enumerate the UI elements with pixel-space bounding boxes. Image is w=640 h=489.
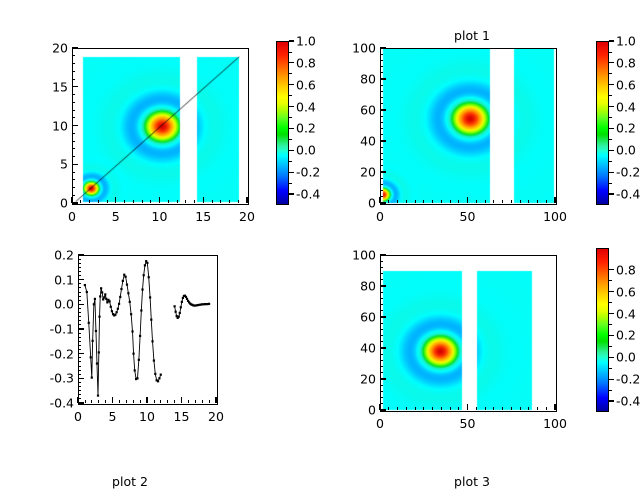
colorbar-tick-label: 0.6 <box>296 77 316 92</box>
x-minor-tick <box>388 200 389 203</box>
data-point-marker <box>97 395 99 397</box>
y-major-tick <box>380 285 386 286</box>
y-minor-tick <box>380 122 383 123</box>
colorbar-bottom-right <box>596 248 609 412</box>
colorbar-tick <box>609 84 614 85</box>
data-point-marker <box>146 262 148 264</box>
heatmap-image <box>381 49 556 204</box>
y-minor-tick <box>72 71 75 72</box>
panel-bottom-right: plot 3 020406080100050100 -0.4-0.20.00.2… <box>320 240 640 480</box>
colorbar-tick <box>609 357 614 358</box>
y-tick-label: -0.1 <box>32 322 74 337</box>
x-minor-tick <box>476 200 477 203</box>
colorbar-minor-tick <box>609 183 612 184</box>
y-minor-tick <box>380 103 383 104</box>
y-minor-tick <box>78 366 81 367</box>
y-minor-tick <box>380 97 383 98</box>
x-major-tick <box>115 197 116 203</box>
y-minor-tick <box>380 72 383 73</box>
y-minor-tick <box>380 261 383 262</box>
y-tick-label: 40 <box>334 341 376 356</box>
colorbar-minor-tick <box>609 324 612 325</box>
y-tick-label: 0.1 <box>32 272 74 287</box>
y-tick-label: 80 <box>334 72 376 87</box>
y-minor-tick <box>78 390 81 391</box>
y-tick-label: 20 <box>26 41 68 56</box>
y-minor-tick <box>78 349 81 350</box>
data-point-marker <box>140 309 142 311</box>
x-minor-tick <box>195 400 196 403</box>
data-point-marker <box>134 369 136 371</box>
x-minor-tick <box>174 400 175 403</box>
x-tick-label: 20 <box>217 209 277 224</box>
y-minor-tick <box>78 394 81 395</box>
colorbar-tick-label: 0.0 <box>616 350 636 365</box>
x-minor-tick <box>423 200 424 203</box>
data-point-marker <box>110 306 112 308</box>
y-major-tick <box>78 328 84 329</box>
y-tick-label: 15 <box>26 79 68 94</box>
x-tick-label: 0 <box>350 416 410 431</box>
y-major-tick <box>380 409 386 410</box>
data-point-marker <box>88 322 90 324</box>
y-minor-tick <box>72 133 75 134</box>
y-tick-label: 10 <box>26 118 68 133</box>
colorbar-tick <box>289 128 294 129</box>
y-minor-tick <box>380 184 383 185</box>
panel-bottom-right-title: plot 3 <box>362 474 582 489</box>
y-minor-tick <box>380 366 383 367</box>
colorbar-tick-label: 0.6 <box>616 77 636 92</box>
y-minor-tick <box>380 267 383 268</box>
x-minor-tick <box>89 200 90 203</box>
data-point-marker <box>105 298 107 300</box>
data-point-marker <box>136 377 138 379</box>
x-minor-tick <box>493 200 494 203</box>
x-minor-tick <box>450 200 451 203</box>
axes-top-right[interactable] <box>380 48 557 205</box>
panel-top-right-title: plot 1 <box>362 28 582 43</box>
data-point-marker <box>99 295 101 297</box>
y-major-tick <box>380 47 386 48</box>
y-minor-tick <box>380 360 383 361</box>
colorbar-tick <box>289 150 294 151</box>
axes-bottom-right[interactable] <box>380 255 557 412</box>
y-minor-tick <box>78 308 81 309</box>
y-minor-tick <box>72 117 75 118</box>
y-major-tick <box>380 171 386 172</box>
y-minor-tick <box>78 263 81 264</box>
colorbar-minor-tick <box>289 139 292 140</box>
colorbar-tick <box>609 150 614 151</box>
y-minor-tick <box>78 259 81 260</box>
colorbar-minor-tick <box>289 73 292 74</box>
x-minor-tick <box>150 200 151 203</box>
data-point-marker <box>151 340 153 342</box>
colorbar-tick-label: -0.2 <box>616 372 640 387</box>
x-minor-tick <box>388 407 389 410</box>
x-minor-tick <box>406 200 407 203</box>
y-minor-tick <box>72 172 75 173</box>
y-major-tick <box>78 254 84 255</box>
x-major-tick <box>379 197 380 203</box>
colorbar-tick-label: 0.0 <box>296 143 316 158</box>
data-point-marker <box>150 319 152 321</box>
x-tick-label: 50 <box>438 209 498 224</box>
x-minor-tick <box>432 200 433 203</box>
x-major-tick <box>77 397 78 403</box>
y-tick-label: 60 <box>334 310 376 325</box>
colorbar-tick-label: -0.2 <box>616 165 640 180</box>
colorbar-minor-tick <box>609 52 612 53</box>
data-point-marker <box>116 311 118 313</box>
colorbar-minor-tick <box>289 117 292 118</box>
panel-top-right: plot 1 020406080100050100 -0.4-0.20.00.2… <box>320 0 640 240</box>
colorbar-tick-label: 1.0 <box>296 34 316 49</box>
y-major-tick <box>72 86 78 87</box>
x-major-tick <box>112 397 113 403</box>
colorbar-top-right <box>596 41 609 205</box>
x-minor-tick <box>476 407 477 410</box>
colorbar-minor-tick <box>289 95 292 96</box>
data-point-marker <box>158 377 160 379</box>
y-major-tick <box>72 164 78 165</box>
colorbar-tick-label: 0.8 <box>616 55 636 70</box>
data-point-marker <box>94 298 96 300</box>
data-point-marker <box>181 301 183 303</box>
y-minor-tick <box>380 190 383 191</box>
x-major-tick <box>159 197 160 203</box>
colorbar-minor-tick <box>609 368 612 369</box>
colorbar-tick-label: 0.6 <box>616 284 636 299</box>
y-minor-tick <box>380 298 383 299</box>
x-minor-tick <box>188 400 189 403</box>
y-minor-tick <box>380 304 383 305</box>
data-point-marker <box>98 351 100 353</box>
colorbar-minor-tick <box>289 161 292 162</box>
y-minor-tick <box>380 134 383 135</box>
y-minor-tick <box>380 128 383 129</box>
y-tick-label: 20 <box>334 165 376 180</box>
y-major-tick <box>78 378 84 379</box>
colorbar-tick-label: 0.2 <box>296 121 316 136</box>
x-minor-tick <box>397 200 398 203</box>
colorbar-minor-tick <box>609 390 612 391</box>
x-minor-tick <box>493 407 494 410</box>
colorbar-tick <box>289 40 294 41</box>
y-minor-tick <box>380 279 383 280</box>
figure-canvas: 0510152005101520 -0.4-0.20.00.20.40.60.8… <box>0 0 640 480</box>
x-minor-tick <box>124 200 125 203</box>
y-major-tick <box>78 304 84 305</box>
data-point-marker <box>95 330 97 332</box>
x-minor-tick <box>194 200 195 203</box>
x-minor-tick <box>98 400 99 403</box>
x-minor-tick <box>537 407 538 410</box>
y-minor-tick <box>78 337 81 338</box>
y-major-tick <box>380 109 386 110</box>
x-minor-tick <box>520 200 521 203</box>
data-point-marker <box>132 353 134 355</box>
data-point-marker <box>103 296 105 298</box>
y-minor-tick <box>72 156 75 157</box>
y-minor-tick <box>72 63 75 64</box>
x-minor-tick <box>537 200 538 203</box>
x-major-tick <box>246 197 247 203</box>
y-minor-tick <box>78 275 81 276</box>
x-minor-tick <box>415 407 416 410</box>
x-minor-tick <box>107 200 108 203</box>
y-minor-tick <box>72 148 75 149</box>
data-point-marker <box>185 296 187 298</box>
colorbar-tick <box>609 335 614 336</box>
data-point-marker <box>111 310 113 312</box>
x-major-tick <box>71 197 72 203</box>
x-minor-tick <box>119 400 120 403</box>
data-point-marker <box>208 303 210 305</box>
y-major-tick <box>72 125 78 126</box>
x-minor-tick <box>209 400 210 403</box>
x-minor-tick <box>441 407 442 410</box>
y-major-tick <box>380 78 386 79</box>
y-minor-tick <box>72 79 75 80</box>
y-minor-tick <box>380 165 383 166</box>
x-major-tick <box>554 404 555 410</box>
y-minor-tick <box>78 382 81 383</box>
colorbar-tick-label: 0.8 <box>296 55 316 70</box>
data-point-marker <box>122 280 124 282</box>
x-minor-tick <box>202 400 203 403</box>
data-point-marker <box>119 296 121 298</box>
y-minor-tick <box>380 335 383 336</box>
y-major-tick <box>380 140 386 141</box>
colorbar-tick <box>289 193 294 194</box>
colorbar-tick <box>289 106 294 107</box>
y-minor-tick <box>72 102 75 103</box>
x-minor-tick <box>160 400 161 403</box>
y-tick-label: -0.3 <box>32 371 74 386</box>
y-minor-tick <box>380 66 383 67</box>
colorbar-minor-tick <box>609 73 612 74</box>
x-minor-tick <box>546 407 547 410</box>
x-minor-tick <box>177 200 178 203</box>
y-minor-tick <box>380 91 383 92</box>
y-tick-label: 5 <box>26 157 68 172</box>
y-minor-tick <box>380 85 383 86</box>
x-minor-tick <box>546 200 547 203</box>
y-minor-tick <box>78 271 81 272</box>
x-minor-tick <box>140 400 141 403</box>
data-point-marker <box>148 276 150 278</box>
data-point-marker <box>84 284 86 286</box>
x-minor-tick <box>212 200 213 203</box>
colorbar-minor-tick <box>609 161 612 162</box>
x-minor-tick <box>415 200 416 203</box>
y-minor-tick <box>78 312 81 313</box>
data-point-marker <box>175 311 177 313</box>
y-tick-label: 20 <box>334 372 376 387</box>
x-minor-tick <box>168 200 169 203</box>
y-major-tick <box>380 202 386 203</box>
x-minor-tick <box>520 407 521 410</box>
y-minor-tick <box>78 370 81 371</box>
colorbar-minor-tick <box>289 183 292 184</box>
colorbar-minor-tick <box>609 280 612 281</box>
data-point-marker <box>98 316 100 318</box>
y-minor-tick <box>380 60 383 61</box>
x-minor-tick <box>485 200 486 203</box>
y-major-tick <box>78 353 84 354</box>
y-minor-tick <box>380 153 383 154</box>
y-major-tick <box>72 47 78 48</box>
y-minor-tick <box>380 178 383 179</box>
data-point-marker <box>129 301 131 303</box>
data-point-marker <box>143 274 145 276</box>
y-major-tick <box>72 202 78 203</box>
y-minor-tick <box>78 333 81 334</box>
x-tick-label: 100 <box>525 416 585 431</box>
colorbar-tick-label: 1.0 <box>616 34 636 49</box>
x-major-tick <box>146 397 147 403</box>
x-minor-tick <box>154 400 155 403</box>
data-point-marker <box>104 293 106 295</box>
data-point-marker <box>117 308 119 310</box>
data-point-marker <box>139 335 141 337</box>
x-minor-tick <box>423 407 424 410</box>
data-point-marker <box>138 359 140 361</box>
data-point-marker <box>174 305 176 307</box>
x-minor-tick <box>432 407 433 410</box>
data-point-marker <box>118 303 120 305</box>
y-minor-tick <box>380 116 383 117</box>
colorbar-tick-label: 0.2 <box>616 121 636 136</box>
axes-top-left[interactable] <box>72 48 249 205</box>
x-minor-tick <box>511 407 512 410</box>
y-minor-tick <box>78 324 81 325</box>
x-tick-label: 50 <box>438 416 498 431</box>
colorbar-tick-label: -0.2 <box>296 165 320 180</box>
x-minor-tick <box>133 200 134 203</box>
data-point-marker <box>186 298 188 300</box>
y-tick-label: 80 <box>334 279 376 294</box>
panel-top-left: 0510152005101520 -0.4-0.20.00.20.40.60.8… <box>0 0 320 240</box>
y-minor-tick <box>380 385 383 386</box>
x-minor-tick <box>142 200 143 203</box>
x-minor-tick <box>91 400 92 403</box>
x-minor-tick <box>80 200 81 203</box>
y-minor-tick <box>78 296 81 297</box>
colorbar-minor-tick <box>609 302 612 303</box>
x-minor-tick <box>229 200 230 203</box>
colorbar-minor-tick <box>289 52 292 53</box>
data-point-marker <box>178 316 180 318</box>
x-minor-tick <box>126 400 127 403</box>
heatmap-image <box>73 49 248 204</box>
data-point-marker <box>96 362 98 364</box>
x-major-tick <box>467 404 468 410</box>
y-minor-tick <box>78 374 81 375</box>
x-major-tick <box>379 404 380 410</box>
data-point-marker <box>149 296 151 298</box>
colorbar-minor-tick <box>609 139 612 140</box>
data-point-marker <box>93 303 95 305</box>
colorbar-tick-label: -0.4 <box>616 187 640 202</box>
data-point-marker <box>90 356 92 358</box>
x-minor-tick <box>185 200 186 203</box>
colorbar-tick <box>609 62 614 63</box>
colorbar-tick <box>609 400 614 401</box>
y-tick-label: 0.2 <box>32 248 74 263</box>
x-minor-tick <box>511 200 512 203</box>
y-minor-tick <box>78 267 81 268</box>
x-minor-tick <box>441 200 442 203</box>
data-point-marker <box>101 291 103 293</box>
data-point-marker <box>102 298 104 300</box>
data-point-marker <box>153 359 155 361</box>
y-minor-tick <box>380 341 383 342</box>
y-minor-tick <box>380 292 383 293</box>
colorbar-tick-label: 0.4 <box>296 99 316 114</box>
y-minor-tick <box>380 310 383 311</box>
x-tick-label: 20 <box>186 409 246 424</box>
x-major-tick <box>467 197 468 203</box>
colorbar-tick-label: 0.4 <box>616 306 636 321</box>
x-minor-tick <box>528 200 529 203</box>
x-minor-tick <box>167 400 168 403</box>
y-minor-tick <box>380 329 383 330</box>
x-minor-tick <box>458 200 459 203</box>
y-tick-label: 40 <box>334 134 376 149</box>
y-minor-tick <box>78 357 81 358</box>
data-point-marker <box>92 340 94 342</box>
x-minor-tick <box>458 407 459 410</box>
colorbar-tick <box>289 62 294 63</box>
y-minor-tick <box>72 55 75 56</box>
colorbar-tick <box>609 106 614 107</box>
colorbar-tick-label: 0.8 <box>616 262 636 277</box>
colorbar-top-left <box>276 41 289 205</box>
y-tick-label: 0.0 <box>32 297 74 312</box>
x-minor-tick <box>133 400 134 403</box>
x-minor-tick <box>220 200 221 203</box>
colorbar-tick-label: 0.0 <box>616 143 636 158</box>
x-minor-tick <box>485 407 486 410</box>
panel-bottom-left: plot 2 -0.4-0.3-0.2-0.10.00.10.205101520 <box>0 240 320 480</box>
y-minor-tick <box>78 320 81 321</box>
data-point-marker <box>131 330 133 332</box>
x-minor-tick <box>502 200 503 203</box>
colorbar-tick <box>609 291 614 292</box>
data-point-marker <box>127 292 129 294</box>
y-minor-tick <box>380 354 383 355</box>
y-tick-label: 60 <box>334 103 376 118</box>
x-minor-tick <box>502 407 503 410</box>
y-minor-tick <box>380 323 383 324</box>
y-minor-tick <box>72 141 75 142</box>
colorbar-minor-tick <box>609 346 612 347</box>
y-minor-tick <box>78 292 81 293</box>
data-point-marker <box>120 288 122 290</box>
colorbar-minor-tick <box>609 95 612 96</box>
data-point-marker <box>109 300 111 302</box>
colorbar-tick <box>609 269 614 270</box>
y-major-tick <box>380 254 386 255</box>
y-major-tick <box>380 378 386 379</box>
data-point-marker <box>114 314 116 316</box>
x-minor-tick <box>450 407 451 410</box>
y-tick-label: 100 <box>334 41 376 56</box>
y-minor-tick <box>78 386 81 387</box>
